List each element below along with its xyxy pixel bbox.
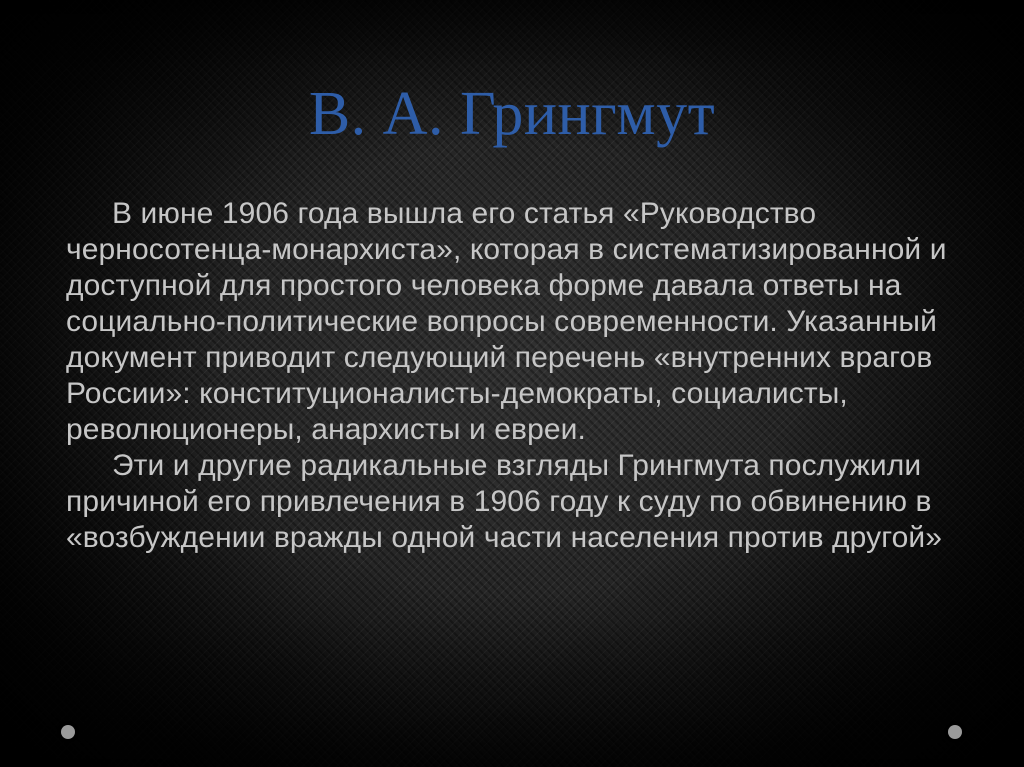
presentation-slide: В. А. Грингмут В июне 1906 года вышла ег… (0, 0, 1024, 767)
body-paragraph-1: В июне 1906 года вышла его статья «Руков… (66, 196, 956, 448)
decorative-dot-right (948, 725, 962, 739)
body-paragraph-2: Эти и другие радикальные взгляды Грингму… (66, 448, 956, 556)
slide-title: В. А. Грингмут (0, 82, 1024, 147)
slide-content: В. А. Грингмут В июне 1906 года вышла ег… (0, 0, 1024, 767)
decorative-dot-left (61, 725, 75, 739)
slide-body-text: В июне 1906 года вышла его статья «Руков… (66, 196, 956, 556)
